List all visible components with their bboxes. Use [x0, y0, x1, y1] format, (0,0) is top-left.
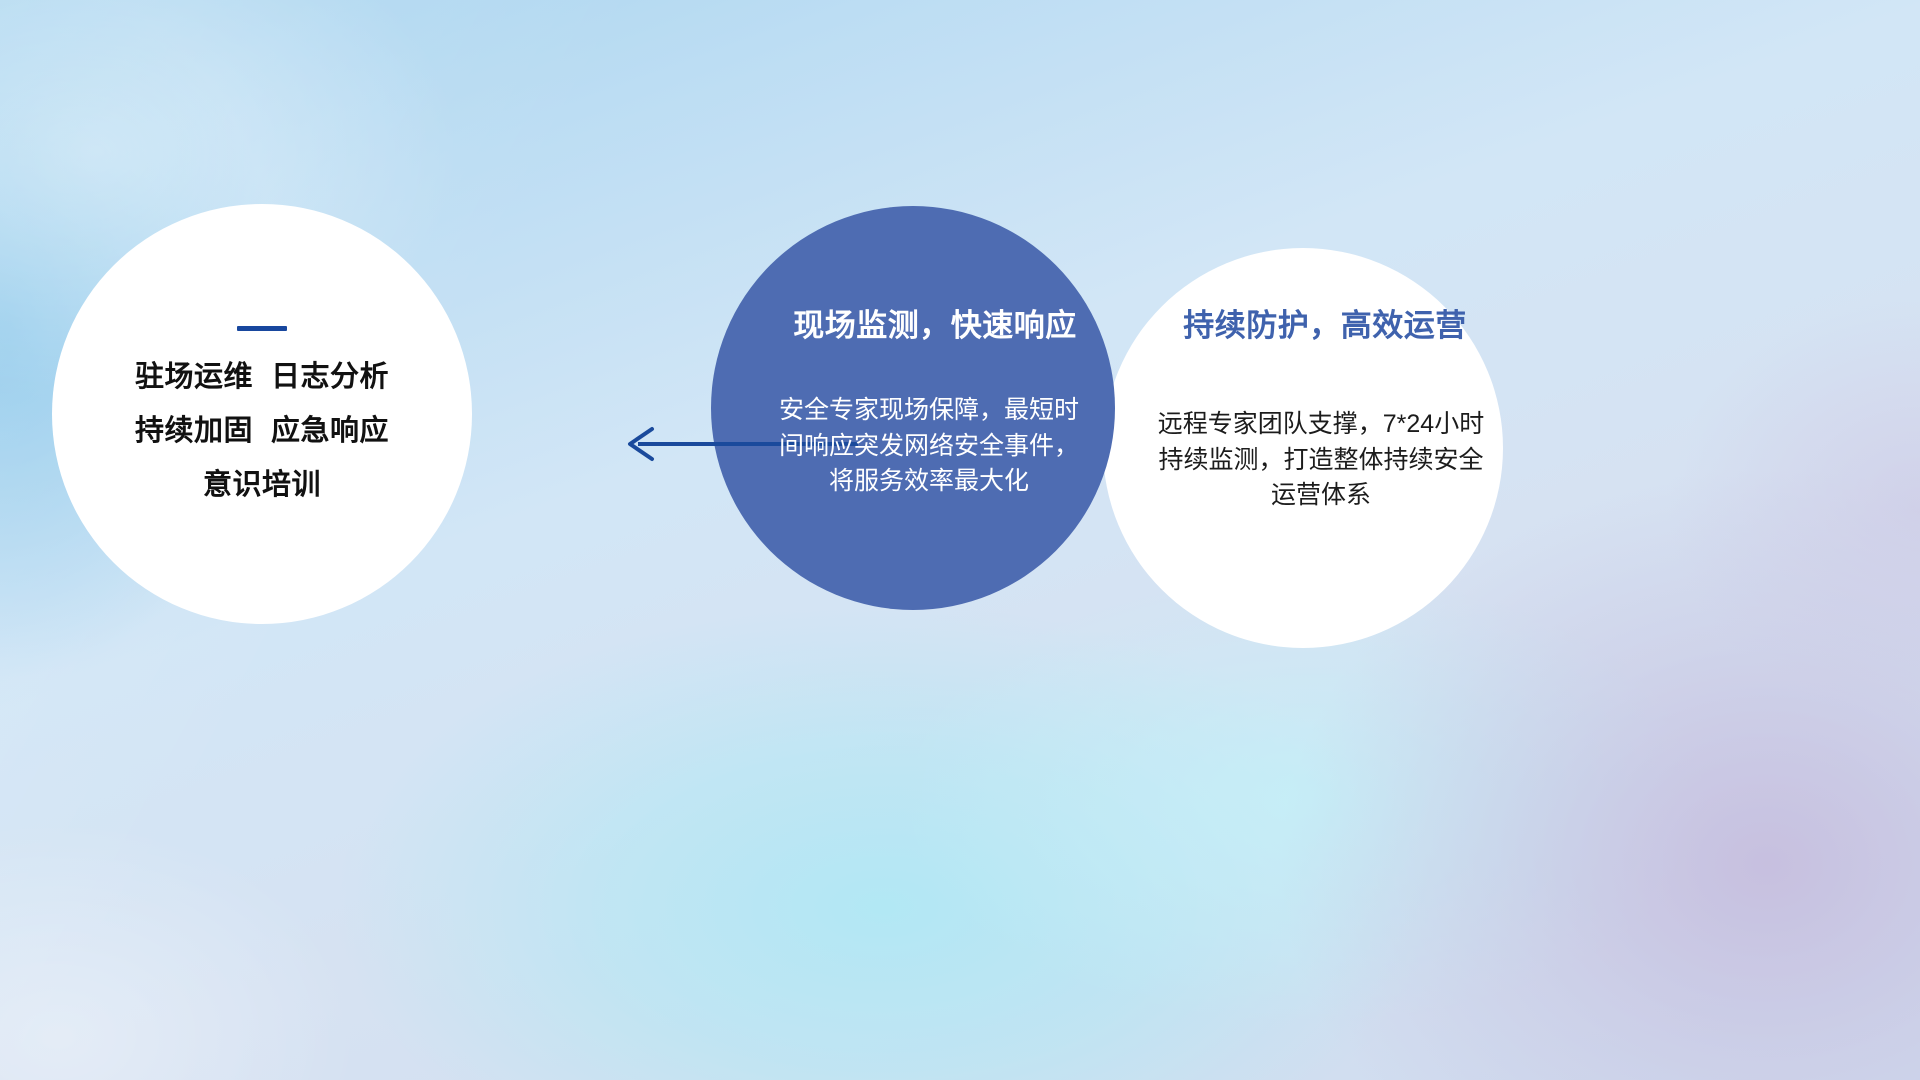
list-item: 驻场运维日志分析	[135, 363, 389, 392]
capability-label: 驻场运维	[135, 361, 253, 393]
capability-label: 日志分析	[271, 361, 389, 393]
continuous-protection-circle[interactable]	[1103, 248, 1503, 648]
flow-arrow-left-icon	[608, 420, 858, 468]
capability-label: 持续加固	[135, 415, 253, 447]
capability-list: 驻场运维日志分析 持续加固应急响应 意识培训	[135, 363, 389, 500]
slide-canvas: 驻场运维日志分析 持续加固应急响应 意识培训 现场监测，快速响应 安全专家现场保…	[0, 0, 1920, 1080]
accent-rule-icon	[237, 326, 287, 331]
list-item: 意识培训	[135, 471, 389, 500]
capabilities-content: 驻场运维日志分析 持续加固应急响应 意识培训	[52, 204, 472, 624]
onsite-monitoring-circle[interactable]	[711, 206, 1115, 610]
list-item: 持续加固应急响应	[135, 417, 389, 446]
capability-label: 应急响应	[271, 415, 389, 447]
capability-label: 意识培训	[203, 469, 321, 501]
